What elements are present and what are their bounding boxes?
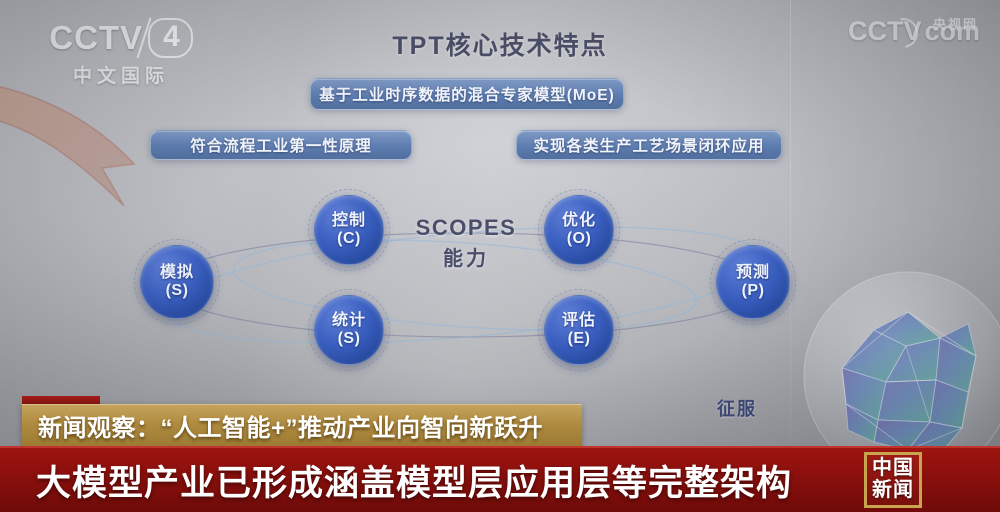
pill-closed-loop: 实现各类生产工艺场景闭环应用 [516,130,782,160]
subhead-text: 新闻观察：“人工智能+”推动产业向智向新跃升 [38,408,543,443]
slide-partial-text: 征服 [672,398,802,421]
slide-title: TPT核心技术特点 [0,26,1000,62]
node-control: 控制 (C) [314,195,384,265]
node-ring [538,289,620,371]
node-simulate: 模拟 (S) [140,245,214,319]
scopes-diagram: 模拟 (S) 控制 (C) 优化 (O) 预测 (P) 统计 (S) 评估 (E… [120,185,840,385]
headline-banner: 大模型产业已形成涵盖模型层应用层等完整架构 [0,446,1000,512]
node-statistics: 统计 (S) [314,295,384,365]
scopes-cn-label: 能力 [388,242,544,271]
node-ring [710,239,796,325]
badge-line-2: 新闻 [872,480,914,502]
program-badge-china-news: 中国 新闻 [864,452,922,508]
channel-subtitle: 中文国际 [26,61,216,88]
node-evaluate: 评估 (E) [544,295,614,365]
scopes-center-label: SCOPES 能力 [388,215,544,271]
headline-text: 大模型产业已形成涵盖模型层应用层等完整架构 [36,455,792,506]
node-predict: 预测 (P) [716,245,790,319]
pill-first-principle: 符合流程工业第一性原理 [150,130,412,160]
scopes-acronym: SCOPES [388,215,544,241]
pill-moe-model: 基于工业时序数据的混合专家模型(MoE) [310,78,624,110]
node-optimize: 优化 (O) [544,195,614,265]
node-ring [308,289,390,371]
broadcast-frame: CCTV 4 中文国际 央视网 CCTV com TPT核心技术特点 基于工业时… [0,0,1000,512]
subhead-banner: 新闻观察：“人工智能+”推动产业向智向新跃升 [22,404,582,446]
node-ring [134,239,220,325]
node-ring [538,189,620,271]
badge-line-1: 中国 [872,458,914,480]
node-ring [308,189,390,271]
